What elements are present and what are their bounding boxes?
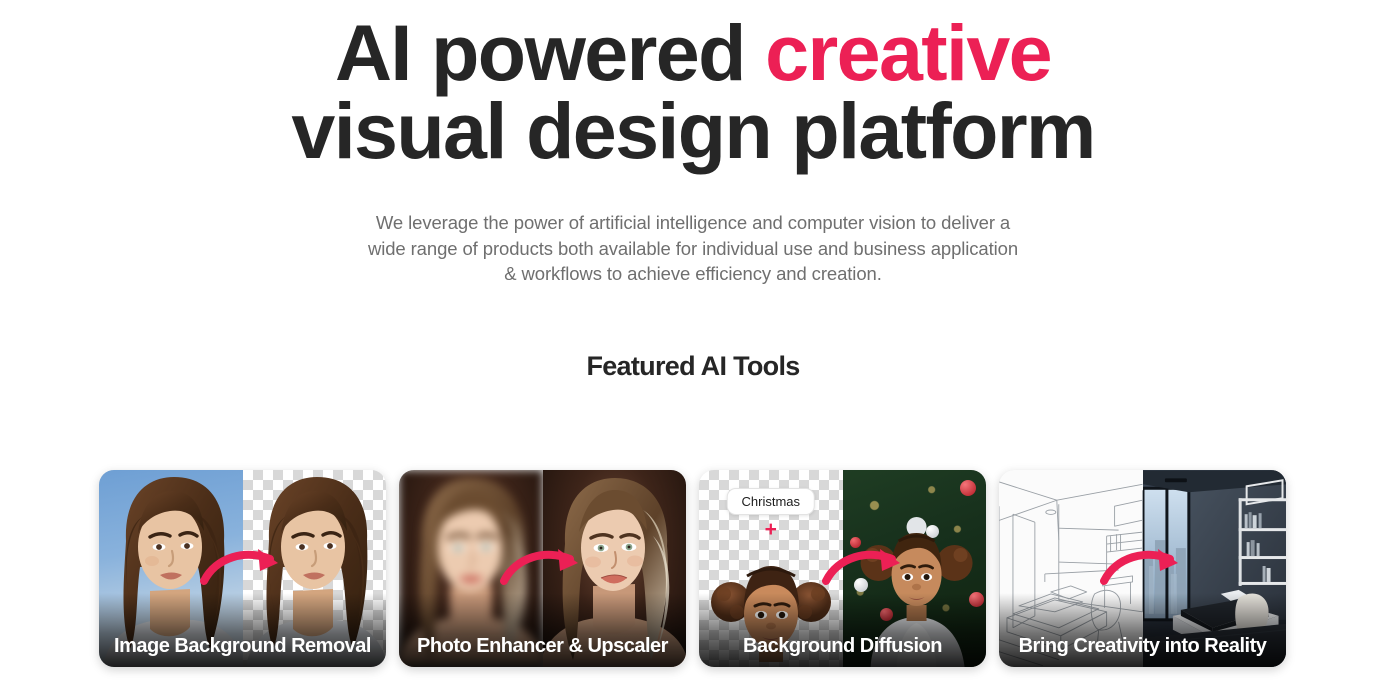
hero-subtitle-line2: wide range of products both available fo…	[368, 238, 1018, 259]
hero-title-part1: AI powered	[335, 8, 765, 97]
hero-section: AI powered creative visual design platfo…	[0, 0, 1386, 287]
hero-title-line2: visual design platform	[291, 86, 1094, 175]
tool-card-photo-enhancer-upscaler[interactable]: Photo Enhancer & Upscaler	[399, 470, 686, 667]
card3-before-image: Christmas +	[699, 470, 843, 667]
transform-arrow-icon	[822, 541, 908, 597]
page-title: AI powered creative visual design platfo…	[0, 14, 1386, 170]
hero-subtitle-line3: & workflows to achieve efficiency and cr…	[504, 263, 882, 284]
featured-tools-heading: Featured AI Tools	[0, 351, 1386, 382]
prompt-pill[interactable]: Christmas	[726, 488, 815, 515]
child-face-cutout	[711, 550, 831, 665]
transform-arrow-icon	[1100, 541, 1186, 597]
tool-card-background-diffusion[interactable]: Christmas +	[699, 470, 986, 667]
hero-title-line1: AI powered creative	[335, 8, 1051, 97]
bauble-red	[960, 480, 976, 496]
transform-arrow-icon	[500, 541, 586, 597]
tool-card-image-background-removal[interactable]: Image Background Removal	[99, 470, 386, 667]
featured-tools-grid: Image Background Removal	[99, 470, 1286, 667]
hero-title-accent: creative	[765, 8, 1051, 97]
hero-subtitle: We leverage the power of artificial inte…	[0, 210, 1386, 287]
transform-arrow-icon	[200, 541, 286, 597]
plus-icon: +	[765, 519, 777, 540]
tool-card-bring-creativity-into-reality[interactable]: Bring Creativity into Reality	[999, 470, 1286, 667]
hero-subtitle-line1: We leverage the power of artificial inte…	[376, 212, 1010, 233]
landing-page: AI powered creative visual design platfo…	[0, 0, 1386, 687]
